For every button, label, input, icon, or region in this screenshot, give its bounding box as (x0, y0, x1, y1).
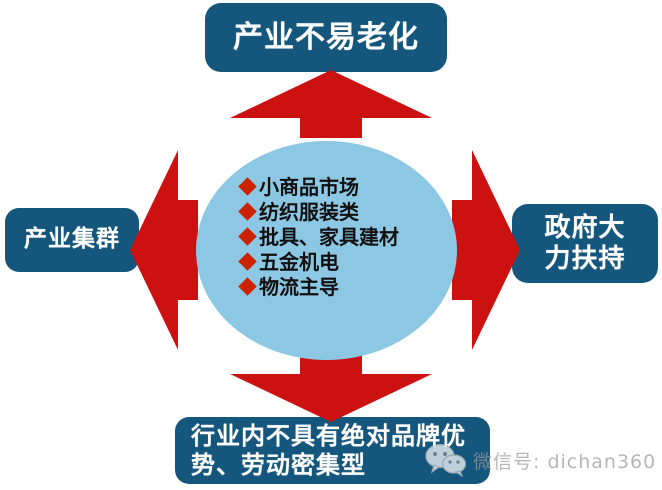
node-box-top: 产业不易老化 (205, 3, 447, 72)
bullet-label: 批具、家具建材 (259, 227, 399, 247)
node-box-right: 政府大 力扶持 (512, 204, 658, 283)
bullet-label: 物流主导 (259, 277, 339, 297)
list-item: 纺织服装类 (241, 199, 471, 224)
arrow-up (215, 68, 447, 140)
diamond-bullet-icon (238, 252, 256, 270)
center-bullet-list: 小商品市场 纺织服装类 批具、家具建材 五金机电 物流主导 (241, 174, 471, 299)
node-box-left-label: 产业集群 (24, 226, 120, 253)
diamond-bullet-icon (238, 227, 256, 245)
diamond-bullet-icon (238, 277, 256, 295)
diagram-canvas: 小商品市场 纺织服装类 批具、家具建材 五金机电 物流主导 产业不易老化 产业集… (0, 0, 662, 490)
list-item: 小商品市场 (241, 174, 471, 199)
list-item: 批具、家具建材 (241, 224, 471, 249)
node-box-left: 产业集群 (5, 208, 139, 272)
diamond-bullet-icon (238, 177, 256, 195)
diamond-bullet-icon (238, 202, 256, 220)
node-box-right-label-line1: 政府大 (544, 213, 625, 244)
list-item: 物流主导 (241, 274, 471, 299)
list-item: 五金机电 (241, 249, 471, 274)
arrow-down (215, 352, 447, 424)
watermark-text: 微信号: dichan360 (473, 447, 656, 474)
arrow-left (128, 142, 200, 358)
node-box-right-label-line2: 力扶持 (544, 244, 625, 275)
bullet-label: 小商品市场 (259, 177, 359, 197)
bullet-label: 五金机电 (259, 252, 339, 272)
watermark: 微信号: dichan360 (425, 443, 656, 477)
bullet-label: 纺织服装类 (259, 202, 359, 222)
wechat-logo-icon (425, 443, 467, 477)
node-box-top-label: 产业不易老化 (233, 20, 419, 55)
